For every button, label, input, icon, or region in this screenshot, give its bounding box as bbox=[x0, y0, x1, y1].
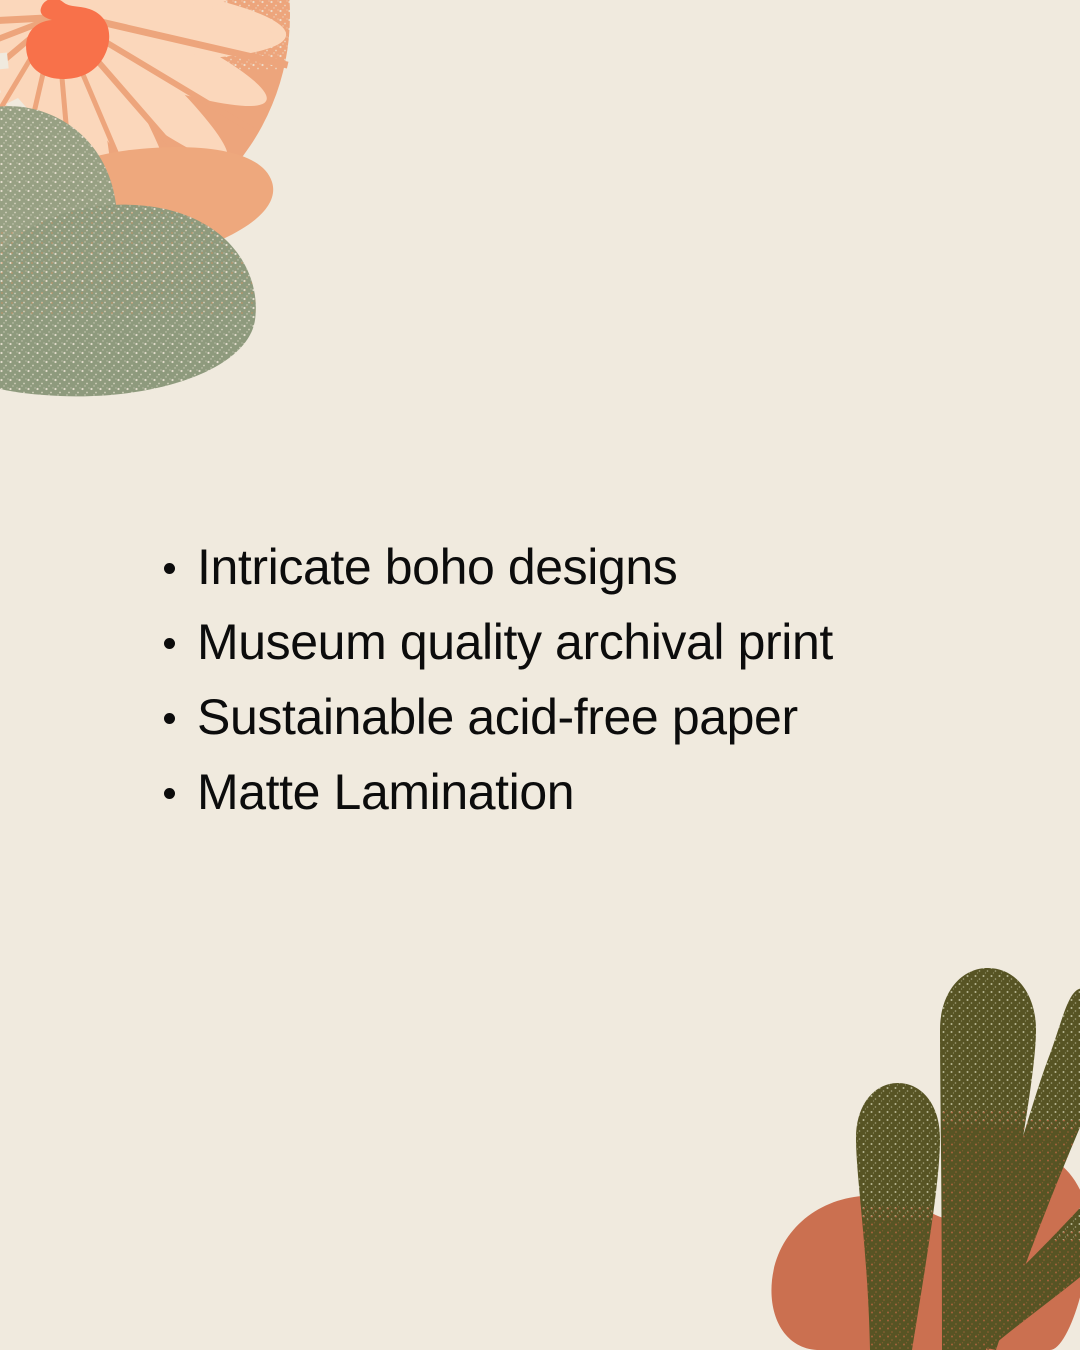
blob-terracotta bbox=[771, 1150, 1080, 1350]
flower-highlights bbox=[0, 52, 96, 212]
poster-canvas: Intricate boho designs Museum quality ar… bbox=[0, 0, 1080, 1350]
flower-center bbox=[26, 0, 109, 79]
feature-label: Intricate boho designs bbox=[197, 539, 677, 595]
leaf-olive-left bbox=[850, 1080, 950, 1350]
leaf-olive-right-lower bbox=[960, 1120, 1080, 1350]
flower-petal-gaps bbox=[0, 8, 288, 236]
feature-label: Museum quality archival print bbox=[197, 614, 833, 670]
decoration-top-left bbox=[0, 0, 330, 400]
feature-list: Intricate boho designs Museum quality ar… bbox=[152, 534, 1012, 826]
bullet-icon bbox=[164, 713, 175, 724]
decoration-bottom-right bbox=[750, 950, 1080, 1350]
leaf-sage-horizontal bbox=[0, 195, 270, 400]
leaf-sage-upright bbox=[0, 90, 130, 400]
bullet-icon bbox=[164, 788, 175, 799]
flower-disc bbox=[0, 0, 320, 250]
feature-list-item: Sustainable acid-free paper bbox=[152, 684, 1012, 751]
feature-label: Sustainable acid-free paper bbox=[197, 689, 798, 745]
leaf-olive-right-upper bbox=[955, 980, 1080, 1350]
bullet-icon bbox=[164, 563, 175, 574]
flower-petals bbox=[0, 0, 290, 231]
feature-list-item: Museum quality archival print bbox=[152, 609, 1012, 676]
feature-label: Matte Lamination bbox=[197, 764, 574, 820]
leaf-salmon bbox=[0, 147, 273, 332]
leaf-olive-center bbox=[936, 964, 1042, 1350]
feature-list-item: Intricate boho designs bbox=[152, 534, 1012, 601]
bullet-icon bbox=[164, 638, 175, 649]
feature-list-item: Matte Lamination bbox=[152, 759, 1012, 826]
